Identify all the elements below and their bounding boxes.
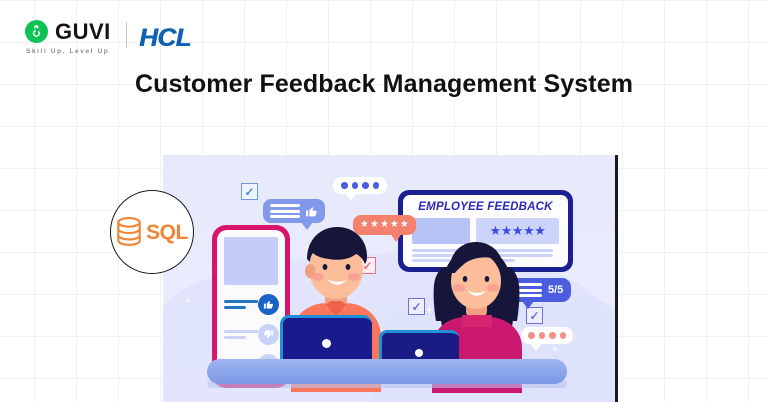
laptop-logo-icon <box>415 349 423 357</box>
dot-icon <box>341 182 348 189</box>
guvi-g-mark-icon <box>25 20 48 43</box>
desk-surface <box>207 359 567 384</box>
hcl-wordmark: HCL <box>139 26 191 51</box>
star-icon: ★ <box>400 220 409 230</box>
thumbs-up-icon <box>305 205 318 218</box>
thumbs-up-icon[interactable] <box>258 294 279 315</box>
dot-icon <box>373 182 380 189</box>
check-icon: ✓ <box>244 186 254 198</box>
guvi-logo: GUVI Skill Up. Level Up <box>25 20 111 55</box>
bubble-text-lines <box>270 204 300 218</box>
sql-label: SQL <box>146 222 188 243</box>
laptop-logo-icon <box>322 339 331 348</box>
dot-icon <box>560 332 567 339</box>
thumbs-down-icon[interactable] <box>258 324 279 345</box>
guvi-tagline: Skill Up. Level Up <box>26 48 109 55</box>
rating-badge-label: 5/5 <box>548 285 563 296</box>
hero-illustration: ✓ ✓ ✓ ✓ <box>163 155 615 402</box>
feedback-card-title: EMPLOYEE FEEDBACK <box>412 201 559 213</box>
dot-icon <box>539 332 546 339</box>
sql-badge: SQL <box>110 190 194 274</box>
phone-reaction-row-like[interactable] <box>224 294 278 315</box>
typing-bubble-blue-dots <box>333 177 387 194</box>
phone-reaction-row-dislike[interactable] <box>224 324 278 345</box>
database-cylinder-icon <box>116 217 142 247</box>
dot-icon <box>352 182 359 189</box>
guvi-wordmark: GUVI <box>55 21 111 43</box>
dot-icon <box>362 182 369 189</box>
brand-bar: GUVI Skill Up. Level Up HCL <box>25 20 190 55</box>
phone-image-placeholder <box>224 237 278 285</box>
dot-icon <box>549 332 556 339</box>
page-title: Customer Feedback Management System <box>0 70 768 99</box>
vertical-divider-icon <box>126 22 127 48</box>
checkbox-blue[interactable]: ✓ <box>241 183 258 200</box>
